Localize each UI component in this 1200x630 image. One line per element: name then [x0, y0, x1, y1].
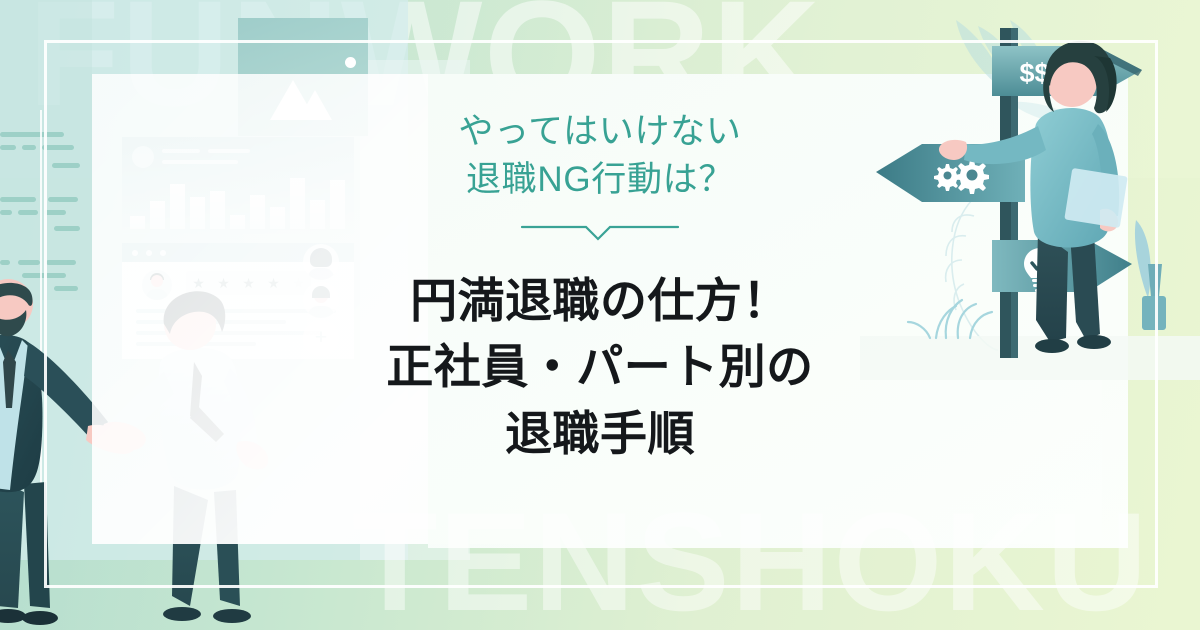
- ground: [860, 336, 1200, 380]
- banner-canvas: FUNWORK: [0, 0, 1200, 630]
- subtitle: やってはいけない 退職NG行動は？: [350, 108, 850, 205]
- sun-icon: [345, 57, 356, 68]
- copy-block: やってはいけない 退職NG行動は？ 円満退職の仕方！ 正社員・パート別の 退職手…: [350, 108, 850, 468]
- headline-line-2: 正社員・パート別の: [350, 334, 850, 401]
- headline-line-3: 退職手順: [350, 401, 850, 468]
- headline-line-1: 円満退職の仕方！: [350, 268, 850, 335]
- folder: [1064, 168, 1127, 228]
- divider-ornament: [520, 219, 680, 243]
- right-illustration: $$$: [860, 20, 1200, 380]
- potted-plant: [1135, 220, 1166, 330]
- subtitle-line-1: やってはいけない: [350, 108, 850, 156]
- page-title: 円満退職の仕方！ 正社員・パート別の 退職手順: [350, 268, 850, 468]
- watermark-bottom-text: TENSHOKU: [352, 492, 1149, 630]
- grass-bush: [908, 300, 992, 338]
- subtitle-line-2: 退職NG行動は？: [350, 156, 850, 204]
